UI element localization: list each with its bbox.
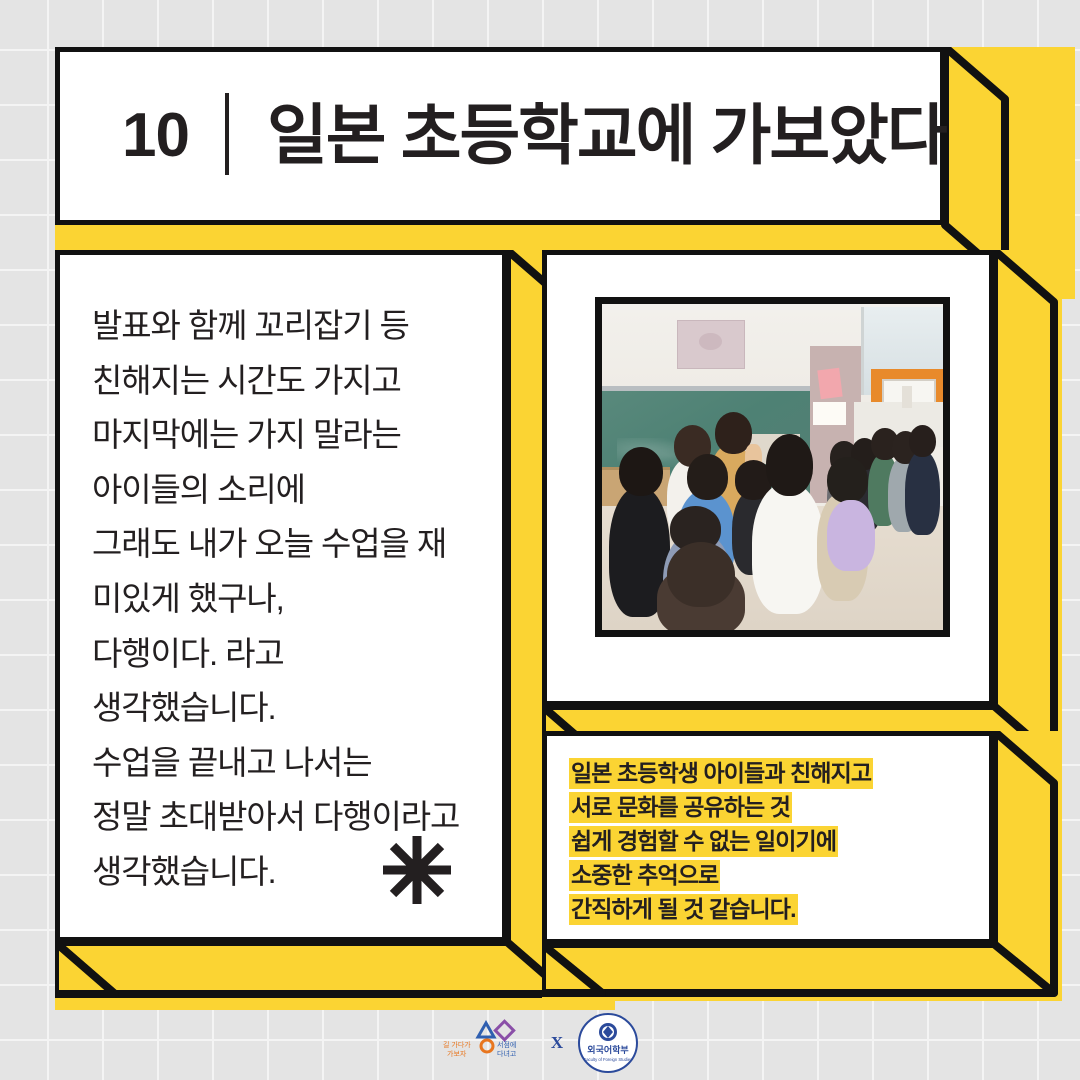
caption-line-text: 서로 문화를 공유하는 것	[569, 792, 792, 823]
svg-text:가보자: 가보자	[447, 1049, 467, 1058]
photo-frame	[595, 297, 950, 637]
caption-line: 서로 문화를 공유하는 것	[569, 796, 967, 819]
caption-line: 쉽게 경험할 수 없는 일이기에	[569, 830, 967, 853]
photo-card	[542, 250, 994, 706]
caption-card: 일본 초등학생 아이들과 친해지고 서로 문화를 공유하는 것 쉽게 경험할 수…	[542, 731, 994, 944]
svg-text:외국어학부: 외국어학부	[587, 1044, 628, 1055]
caption-line-text: 쉽게 경험할 수 없는 일이기에	[569, 826, 838, 857]
svg-text:다녀고: 다녀고	[497, 1049, 517, 1058]
body-line: 아이들의 소리에	[92, 463, 472, 518]
classroom-photo	[602, 304, 943, 630]
body-line: 미있게 했구나,	[92, 572, 472, 627]
title-divider	[225, 93, 229, 175]
body-line: 마지막에는 가지 말라는	[92, 408, 472, 463]
body-line: 다행이다. 라고	[92, 627, 472, 682]
caption-line-text: 소중한 추억으로	[569, 860, 720, 891]
body-line: 생각했습니다.	[92, 681, 472, 736]
body-line: 친해지는 시간도 가지고	[92, 354, 472, 409]
partner-logo-icon: 길 가다가 가보자 서점에 다녀고	[441, 1015, 537, 1071]
svg-text:Faculty of Foreign Studies: Faculty of Foreign Studies	[584, 1057, 633, 1062]
caption-line-text: 간직하게 될 것 같습니다.	[569, 894, 798, 925]
body-line: 수업을 끝내고 나서는	[92, 736, 472, 791]
body-text-card: 발표와 함께 꼬리잡기 등 친해지는 시간도 가지고 마지막에는 가지 말라는 …	[55, 250, 507, 942]
caption-line: 소중한 추억으로	[569, 864, 967, 887]
faculty-logo-icon: 외국어학부 Faculty of Foreign Studies	[577, 1012, 639, 1074]
footer-logos: 길 가다가 가보자 서점에 다녀고 X 외국어학부 Faculty of For…	[0, 1012, 1080, 1074]
caption-line: 일본 초등학생 아이들과 친해지고	[569, 762, 967, 785]
section-number: 10	[122, 105, 189, 167]
body-line: 발표와 함께 꼬리잡기 등	[92, 299, 472, 354]
title-row: 10 일본 초등학교에 가보았다	[60, 93, 946, 179]
poster-canvas: 10 일본 초등학교에 가보았다 발표와 함께 꼬리잡기 등 친해지는 시간도 …	[0, 0, 1080, 1080]
asterisk-icon	[380, 833, 454, 907]
svg-text:길 가다가: 길 가다가	[443, 1040, 471, 1049]
body-line: 그래도 내가 오늘 수업을 재	[92, 517, 472, 572]
caption-line-text: 일본 초등학생 아이들과 친해지고	[569, 758, 873, 789]
page-title: 일본 초등학교에 가보았다	[267, 101, 946, 170]
logo-separator-x: X	[551, 1033, 563, 1053]
caption-line: 간직하게 될 것 같습니다.	[569, 898, 967, 921]
svg-text:서점에: 서점에	[497, 1040, 516, 1049]
title-card: 10 일본 초등학교에 가보았다	[55, 47, 945, 225]
